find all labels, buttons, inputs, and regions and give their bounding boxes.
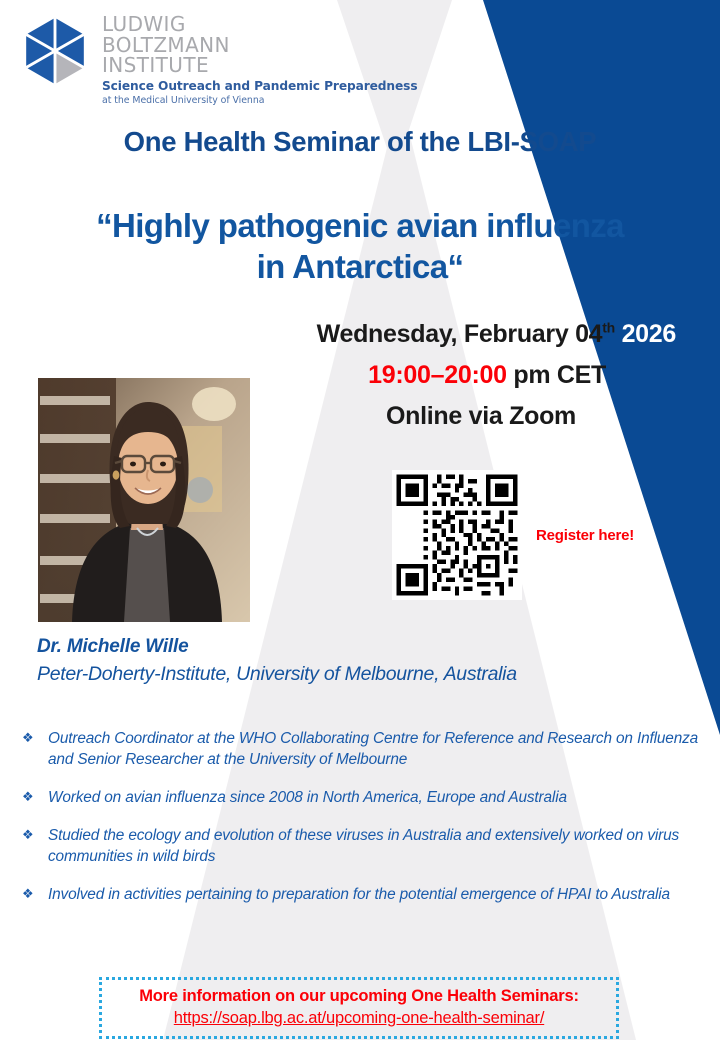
- register-here-label: Register here!: [536, 527, 634, 544]
- event-year: 2026: [622, 320, 676, 348]
- list-item: ❖ Outreach Coordinator at the WHO Collab…: [22, 728, 702, 770]
- logo-line-institute: INSTITUTE: [102, 55, 417, 76]
- diamond-bullet-icon: ❖: [22, 787, 48, 807]
- event-time-end: 20:00: [444, 361, 506, 389]
- speaker-name: Dr. Michelle Wille: [37, 636, 517, 658]
- seminar-subject-line1: “Highly pathogenic avian influenza: [12, 205, 708, 246]
- event-date-ordinal: th: [602, 320, 615, 336]
- event-date: Wednesday, February 04th 2026: [0, 320, 676, 349]
- list-item-text: Worked on avian influenza since 2008 in …: [48, 787, 567, 808]
- poster-canvas: LUDWIG BOLTZMANN INSTITUTE Science Outre…: [0, 0, 720, 1040]
- list-item: ❖ Worked on avian influenza since 2008 i…: [22, 787, 702, 808]
- diamond-bullet-icon: ❖: [22, 728, 48, 748]
- seminar-subject-line2: in Antarctica“: [12, 246, 708, 287]
- speaker-bio-list: ❖ Outreach Coordinator at the WHO Collab…: [22, 728, 702, 922]
- hexagon-logo-icon: [18, 15, 92, 87]
- speaker-affiliation: Peter-Doherty-Institute, University of M…: [37, 663, 517, 686]
- list-item-text: Involved in activities pertaining to pre…: [48, 884, 670, 905]
- logo-line-ludwig: LUDWIG: [102, 14, 417, 35]
- speaker-portrait-image: [38, 378, 250, 622]
- seminar-title: One Health Seminar of the LBI-SOAP: [0, 126, 720, 158]
- event-time-suffix: pm CET: [513, 361, 606, 389]
- more-info-headline: More information on our upcoming One Hea…: [112, 987, 606, 1006]
- logo-wordmark: LUDWIG BOLTZMANN INSTITUTE Science Outre…: [102, 12, 417, 107]
- diamond-bullet-icon: ❖: [22, 825, 48, 845]
- logo-affiliation: at the Medical University of Vienna: [102, 95, 417, 107]
- list-item-text: Outreach Coordinator at the WHO Collabor…: [48, 728, 702, 770]
- list-item: ❖ Involved in activities pertaining to p…: [22, 884, 702, 905]
- event-time-start: 19:00: [368, 361, 430, 389]
- event-date-text: Wednesday, February 04: [317, 320, 603, 348]
- speaker-photo: [38, 378, 250, 622]
- more-info-box: More information on our upcoming One Hea…: [99, 977, 619, 1039]
- speaker-info: Dr. Michelle Wille Peter-Doherty-Institu…: [37, 636, 517, 686]
- logo-tagline: Science Outreach and Pandemic Preparedne…: [102, 79, 417, 94]
- list-item: ❖ Studied the ecology and evolution of t…: [22, 825, 702, 867]
- diamond-bullet-icon: ❖: [22, 884, 48, 904]
- seminars-url-link[interactable]: https://soap.lbg.ac.at/upcoming-one-heal…: [174, 1009, 544, 1028]
- list-item-text: Studied the ecology and evolution of the…: [48, 825, 702, 867]
- seminar-subject: “Highly pathogenic avian influenza in An…: [12, 205, 708, 287]
- logo-line-boltzmann: BOLTZMANN: [102, 35, 417, 56]
- event-time-dash: –: [431, 361, 445, 389]
- qr-code-icon: [392, 470, 522, 600]
- registration-qr-code[interactable]: [392, 470, 522, 600]
- brand-logo: LUDWIG BOLTZMANN INSTITUTE Science Outre…: [18, 12, 417, 107]
